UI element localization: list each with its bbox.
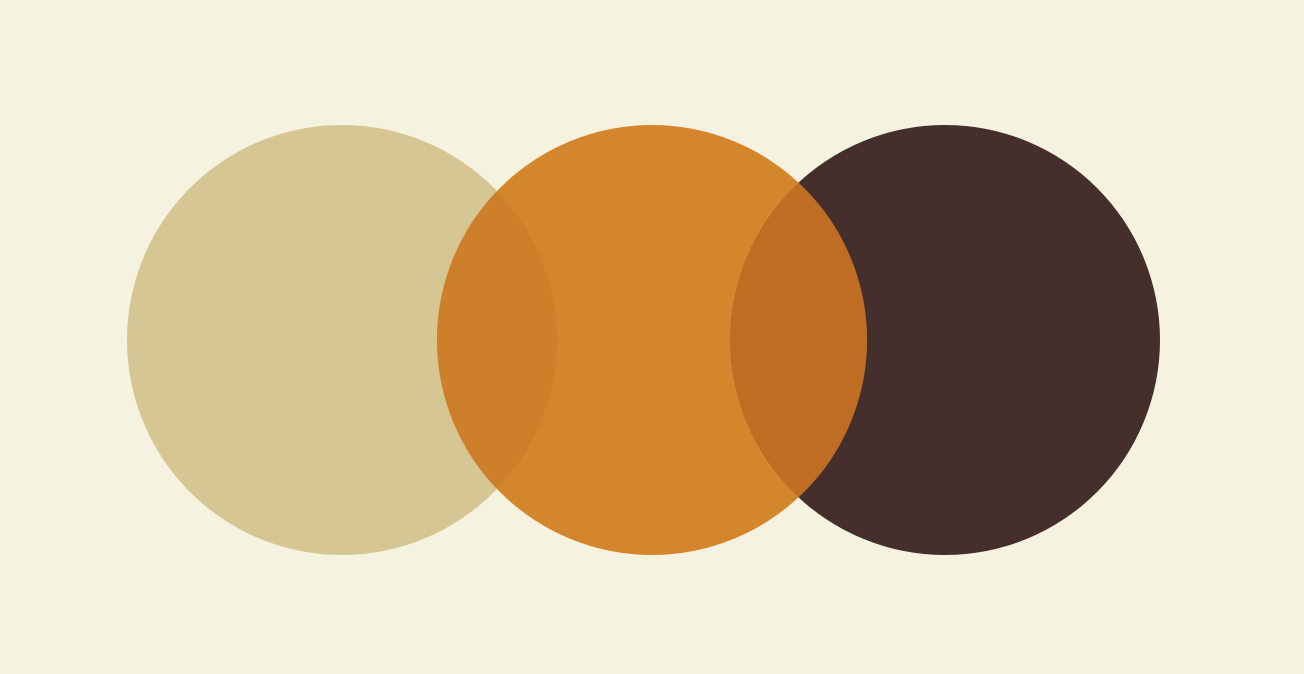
venn-diagram-canvas: front of the frontend back of the fronte… — [0, 0, 1304, 674]
venn-label-consumable-ui-components: consumable ui components — [0, 290, 130, 402]
venn-diagram-svg: front of the frontend back of the fronte… — [0, 0, 1304, 674]
venn-label-consumable-ui-components-line1: consumable — [0, 290, 102, 342]
venn-label-consumable-ui-components-line2: ui components — [0, 350, 130, 402]
